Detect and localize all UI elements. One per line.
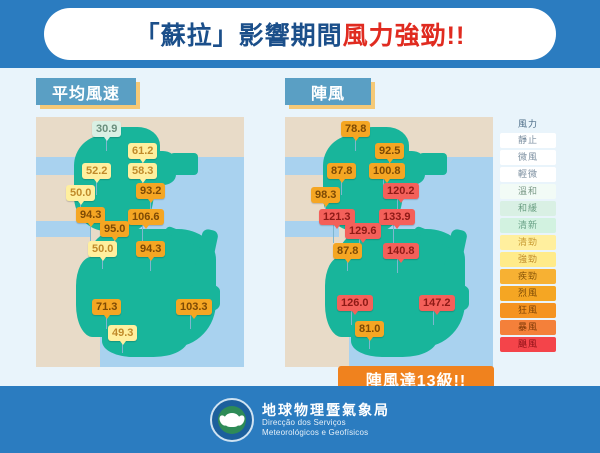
station-value-bubble[interactable]: 100.8: [369, 163, 405, 179]
legend-item: 微風: [500, 150, 556, 165]
legend-item: 烈風: [500, 286, 556, 301]
station-value-bubble[interactable]: 92.5: [375, 143, 404, 159]
legend-item: 靜止: [500, 133, 556, 148]
legend-item: 疾勁: [500, 269, 556, 284]
legend-item: 颶風: [500, 337, 556, 352]
map-average-wind-speed[interactable]: 30.961.252.258.393.250.094.3106.695.050.…: [36, 117, 244, 367]
station-value-bubble[interactable]: 95.0: [100, 221, 129, 237]
station-value-bubble[interactable]: 87.8: [333, 243, 362, 259]
island-small: [170, 153, 198, 175]
station-value-bubble[interactable]: 50.0: [66, 185, 95, 201]
station-value-bubble[interactable]: 103.3: [176, 299, 212, 315]
station-value-bubble[interactable]: 98.3: [311, 187, 340, 203]
station-value-bubble[interactable]: 87.8: [327, 163, 356, 179]
smg-logo-icon: [210, 398, 254, 442]
tab-average-wind-speed[interactable]: 平均風速: [36, 78, 136, 105]
station-value-bubble[interactable]: 78.8: [341, 121, 370, 137]
footer: 地球物理暨氣象局 Direcção dos Serviços Meteoroló…: [0, 386, 600, 453]
organisation-name: 地球物理暨氣象局 Direcção dos Serviços Meteoroló…: [262, 402, 390, 438]
title-pill: 「蘇拉」影響期間風力強勁!!: [44, 8, 556, 60]
station-value-bubble[interactable]: 71.3: [92, 299, 121, 315]
channel-south: [36, 221, 90, 237]
org-name-pt-line2: Meteorológicos e Geofísicos: [262, 428, 390, 438]
mainland-northeast: [405, 117, 493, 139]
legend-items: 靜止微風輕微溫和和緩清新清勁強勁疾勁烈風狂風暴風颶風: [500, 133, 556, 352]
tab-gust[interactable]: 陣風: [285, 78, 371, 105]
station-value-bubble[interactable]: 129.6: [345, 223, 381, 239]
logo-inner: [218, 406, 246, 434]
station-value-bubble[interactable]: 49.3: [108, 325, 137, 341]
station-value-bubble[interactable]: 126.0: [337, 295, 373, 311]
station-value-bubble[interactable]: 133.9: [379, 209, 415, 225]
map-gust[interactable]: 78.892.587.8100.8120.298.3121.3133.9129.…: [285, 117, 493, 367]
infographic-root: 「蘇拉」影響期間風力強勁!! 平均風速 陣風 30.961.252.258.39…: [0, 0, 600, 453]
title-prefix: 「蘇拉」影響期間: [135, 22, 343, 50]
mainland-northeast: [156, 117, 244, 139]
org-name-zh: 地球物理暨氣象局: [262, 402, 390, 419]
island-small: [419, 153, 447, 175]
legend-title: 風力: [500, 117, 556, 130]
legend-item: 清勁: [500, 235, 556, 250]
station-value-bubble[interactable]: 50.0: [88, 241, 117, 257]
legend-item: 強勁: [500, 252, 556, 267]
org-name-pt-line1: Direcção dos Serviços: [262, 418, 390, 428]
station-value-bubble[interactable]: 81.0: [355, 321, 384, 337]
station-value-bubble[interactable]: 30.9: [92, 121, 121, 137]
station-value-bubble[interactable]: 147.2: [419, 295, 455, 311]
lotus-icon: [224, 413, 240, 427]
title-highlight: 風力強勁!!: [343, 22, 466, 50]
legend-item: 溫和: [500, 184, 556, 199]
station-value-bubble[interactable]: 120.2: [383, 183, 419, 199]
station-value-bubble[interactable]: 106.6: [128, 209, 164, 225]
station-value-bubble[interactable]: 58.3: [128, 163, 157, 179]
page-title: 「蘇拉」影響期間風力強勁!!: [135, 16, 466, 52]
legend-item: 暴風: [500, 320, 556, 335]
station-value-bubble[interactable]: 140.8: [383, 243, 419, 259]
station-value-bubble[interactable]: 61.2: [128, 143, 157, 159]
station-value-bubble[interactable]: 93.2: [136, 183, 165, 199]
legend-item: 清新: [500, 218, 556, 233]
legend-item: 狂風: [500, 303, 556, 318]
legend-item: 輕微: [500, 167, 556, 182]
station-value-bubble[interactable]: 94.3: [136, 241, 165, 257]
legend-item: 和緩: [500, 201, 556, 216]
station-value-bubble[interactable]: 52.2: [82, 163, 111, 179]
wind-force-legend: 風力 靜止微風輕微溫和和緩清新清勁強勁疾勁烈風狂風暴風颶風: [500, 117, 556, 367]
